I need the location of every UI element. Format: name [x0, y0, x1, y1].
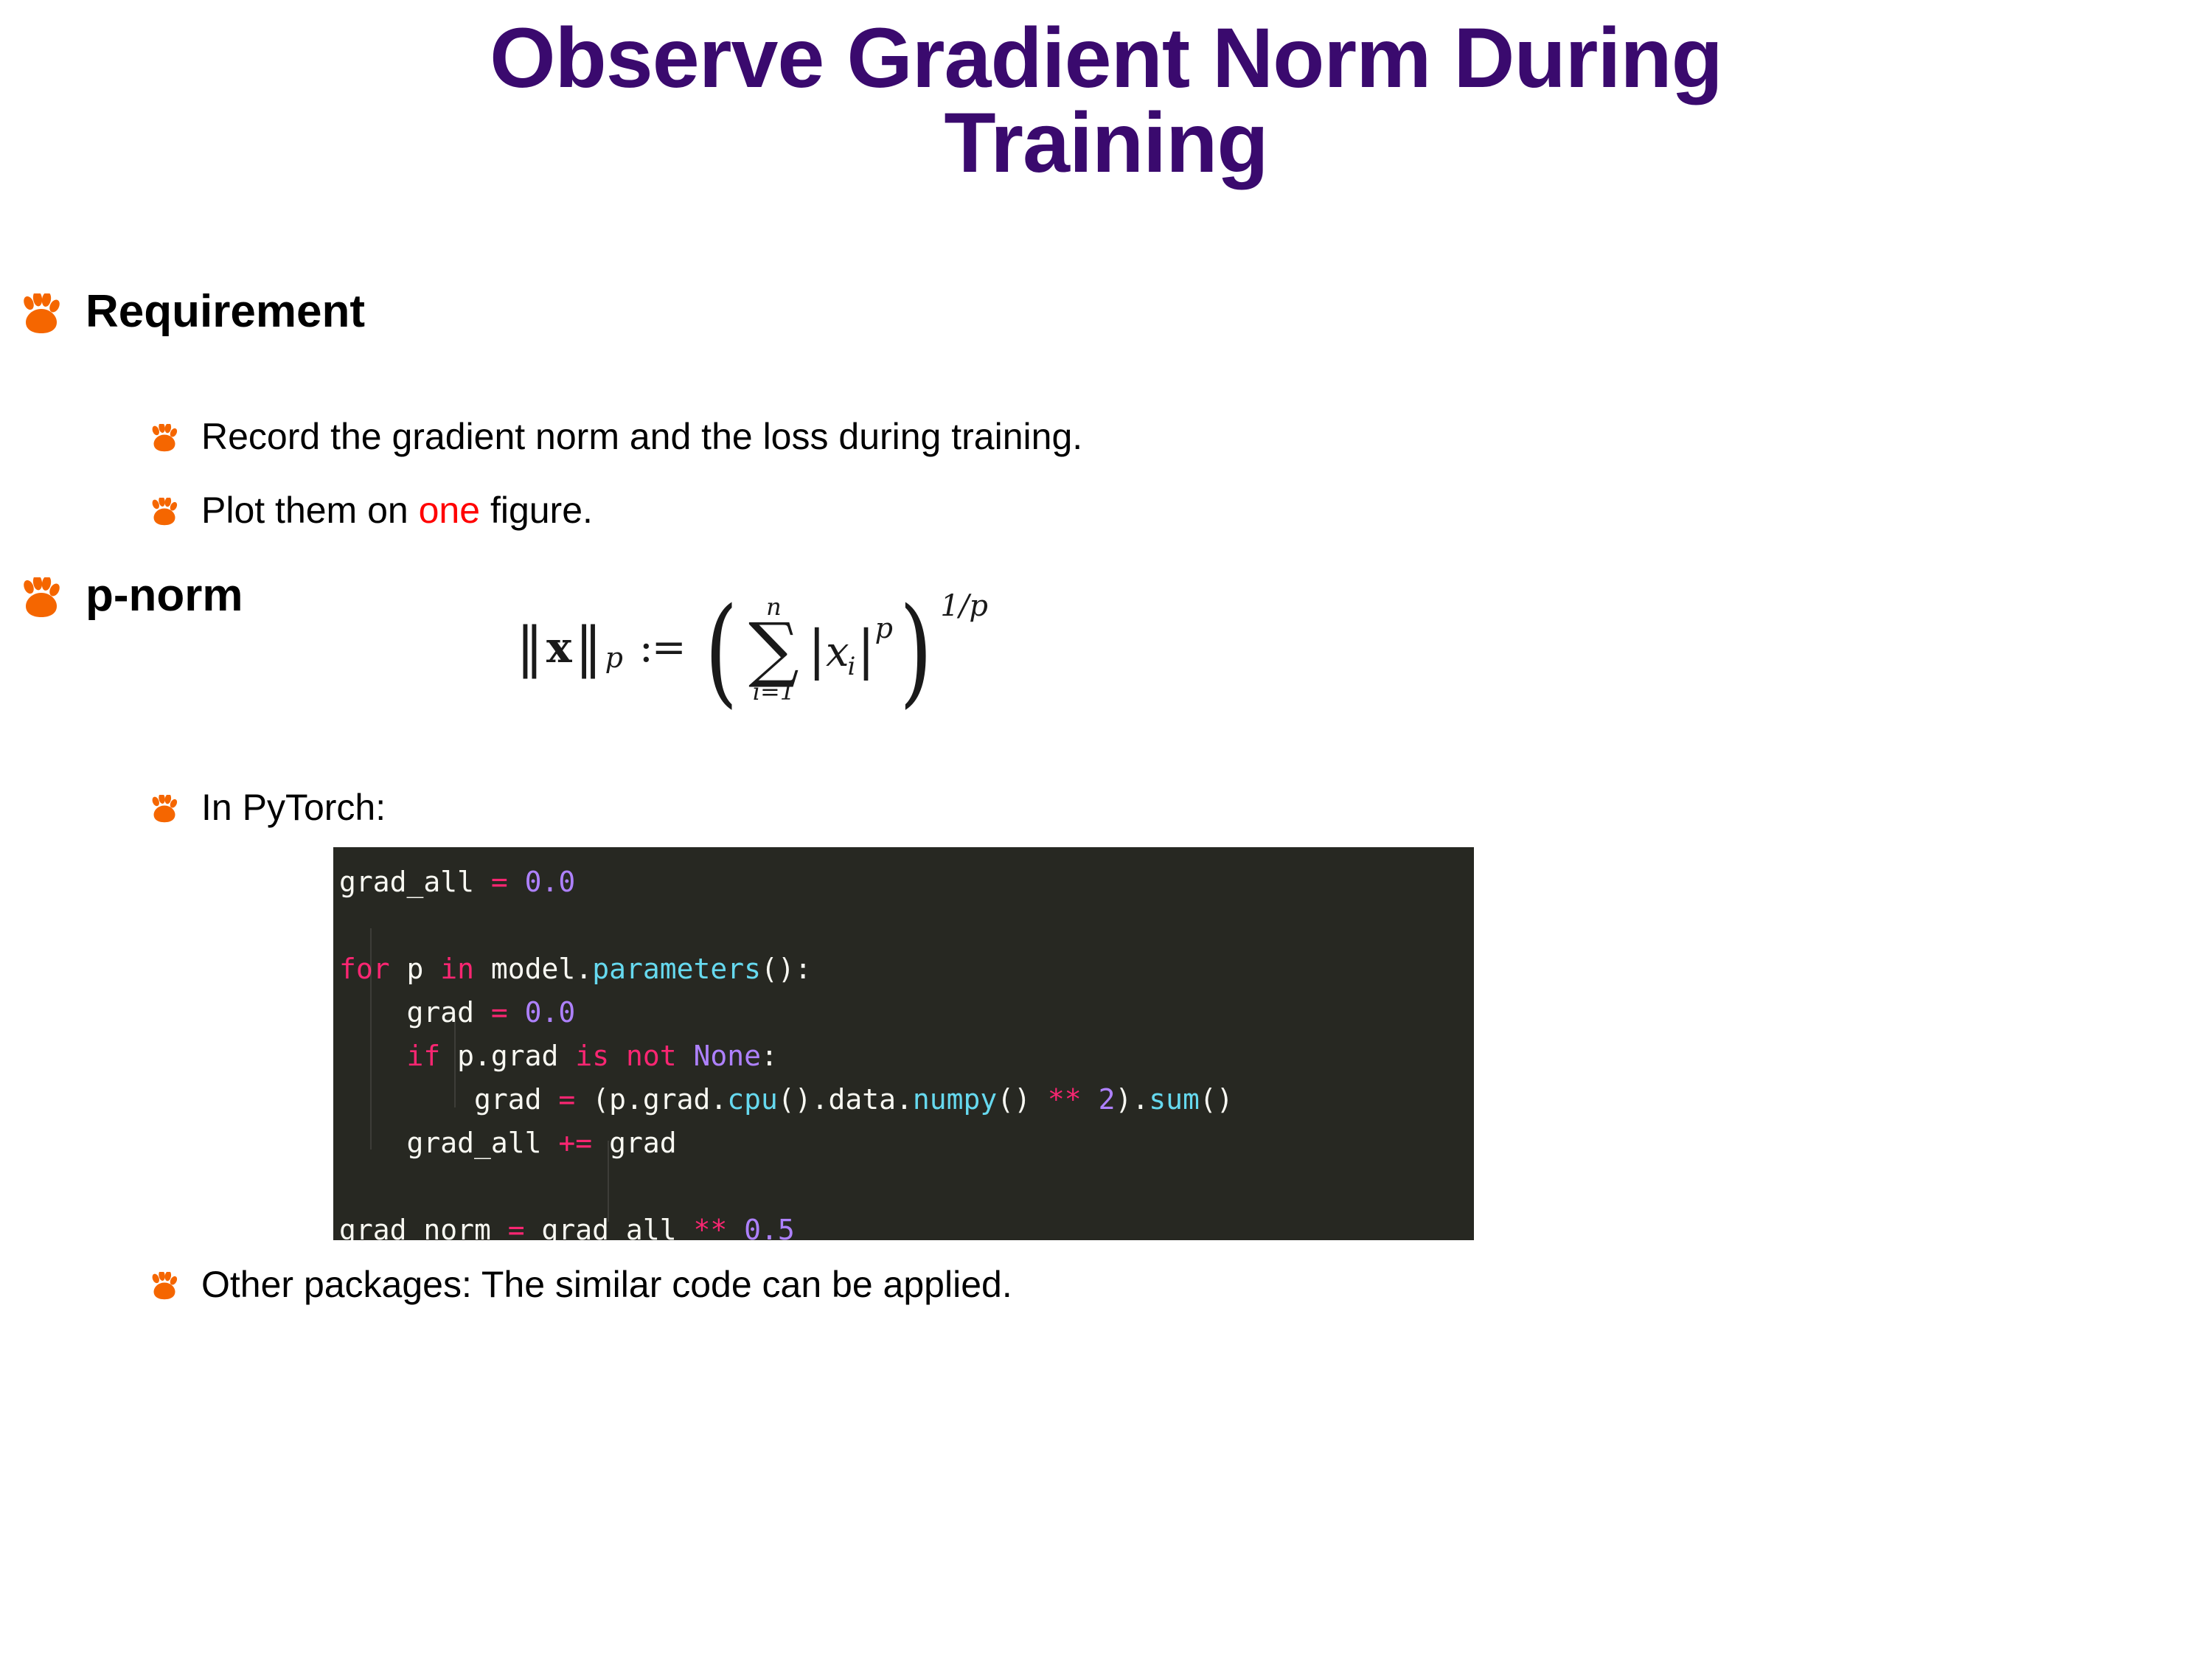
indent-guide — [454, 1015, 456, 1107]
code-token: = — [558, 1083, 592, 1116]
code-token — [339, 1040, 407, 1072]
heading-pnorm: p-norm — [86, 571, 243, 620]
code-token: grad — [339, 996, 491, 1029]
code-token: ** — [693, 1214, 744, 1240]
formula-vector-x: x — [545, 622, 575, 672]
slide-title: Observe Gradient Norm During Training — [111, 16, 2101, 186]
code-token: ** — [1048, 1083, 1099, 1116]
formula-term-subscript: i — [848, 652, 856, 681]
code-token: numpy — [913, 1083, 997, 1116]
bullet-requirement: Requirement — [22, 288, 365, 336]
tiger-paw-icon — [151, 787, 184, 824]
code-token: (): — [761, 953, 812, 985]
bullet-plot-one-figure: Plot them on one figure. — [151, 490, 593, 530]
tiger-paw-icon — [22, 571, 69, 620]
bullet-text-after: figure. — [480, 490, 593, 531]
bullet-text: Plot them on one figure. — [201, 490, 593, 530]
code-token: grad — [339, 1083, 558, 1116]
code-token: if — [407, 1040, 441, 1072]
code-token: grad_all — [339, 1127, 558, 1159]
code-token: model. — [474, 953, 592, 985]
formula-norm-close: ‖ — [575, 616, 604, 679]
code-token: () — [997, 1083, 1048, 1116]
tiger-paw-icon — [22, 288, 69, 336]
code-token: 2 — [1099, 1083, 1116, 1116]
formula-assign: := — [639, 624, 685, 672]
code-token: = — [491, 996, 525, 1029]
code-token: += — [558, 1127, 609, 1159]
bullet-record-gradient: Record the gradient norm and the loss du… — [151, 417, 1082, 456]
formula-norm-subscript: p — [605, 641, 623, 674]
formula-term-group: |xi|p — [808, 616, 893, 678]
formula-term-power: p — [875, 612, 893, 644]
code-token: 0.5 — [744, 1214, 795, 1240]
formula-term-x: x — [826, 628, 849, 676]
formula-close-paren: ) — [900, 608, 933, 693]
tiger-paw-icon — [151, 490, 184, 527]
code-token: ). — [1115, 1083, 1149, 1116]
formula-summation: n ∑ i=1 — [748, 595, 799, 703]
code-token: grad_norm — [339, 1214, 508, 1240]
formula-norm-open: ‖ — [516, 616, 545, 679]
code-token: is not — [575, 1040, 676, 1072]
code-token: cpu — [727, 1083, 778, 1116]
code-token: p.grad — [440, 1040, 575, 1072]
code-token: grad_all — [339, 866, 491, 898]
bullet-text-before: Plot them on — [201, 490, 419, 531]
code-token: : — [761, 1040, 778, 1072]
formula-open-paren: ( — [704, 608, 737, 693]
code-token: 0.0 — [525, 996, 576, 1029]
tiger-paw-icon — [151, 1265, 184, 1301]
bullet-in-pytorch: In PyTorch: — [151, 787, 386, 827]
code-token: None — [693, 1040, 761, 1072]
formula-abs-open: | — [808, 619, 826, 681]
code-token: sum — [1149, 1083, 1200, 1116]
bullet-pnorm: p-norm — [22, 571, 243, 620]
code-token: = — [491, 866, 525, 898]
code-token: () — [1200, 1083, 1234, 1116]
bullet-text-before: Record the gradient norm and the loss du… — [201, 416, 1082, 457]
code-token: ().data. — [778, 1083, 913, 1116]
bullet-text-highlight: one — [419, 490, 480, 531]
bullet-text: Other packages: The similar code can be … — [201, 1265, 1012, 1304]
bullet-text: In PyTorch: — [201, 787, 386, 827]
bullet-text: Record the gradient norm and the loss du… — [201, 417, 1082, 456]
code-block-pytorch-grad-norm: grad_all = 0.0 for p in model.parameters… — [333, 847, 1474, 1240]
code-token: grad — [609, 1127, 677, 1159]
code-token: for — [339, 953, 390, 985]
code-text: grad_all = 0.0 for p in model.parameters… — [339, 860, 1474, 1240]
formula-outer-power: 1/p — [940, 589, 988, 623]
formula-sigma-lower: i=1 — [753, 680, 795, 703]
formula-abs-close: | — [857, 619, 874, 681]
code-token: parameters — [592, 953, 761, 985]
code-token: in — [440, 953, 474, 985]
code-token: = — [508, 1214, 542, 1240]
pnorm-formula: ‖x‖p:=( n ∑ i=1 |xi|p)1/p — [516, 594, 987, 702]
heading-requirement: Requirement — [86, 288, 365, 336]
indent-guide — [370, 928, 372, 1150]
formula-sigma-glyph: ∑ — [748, 620, 799, 678]
indent-guide — [608, 1141, 609, 1222]
code-token: grad_all — [542, 1214, 694, 1240]
bullet-other-packages: Other packages: The similar code can be … — [151, 1265, 1012, 1304]
tiger-paw-icon — [151, 417, 184, 453]
code-token: p — [390, 953, 441, 985]
code-token: 0.0 — [525, 866, 576, 898]
code-token — [677, 1040, 694, 1072]
code-token: (p.grad. — [592, 1083, 727, 1116]
